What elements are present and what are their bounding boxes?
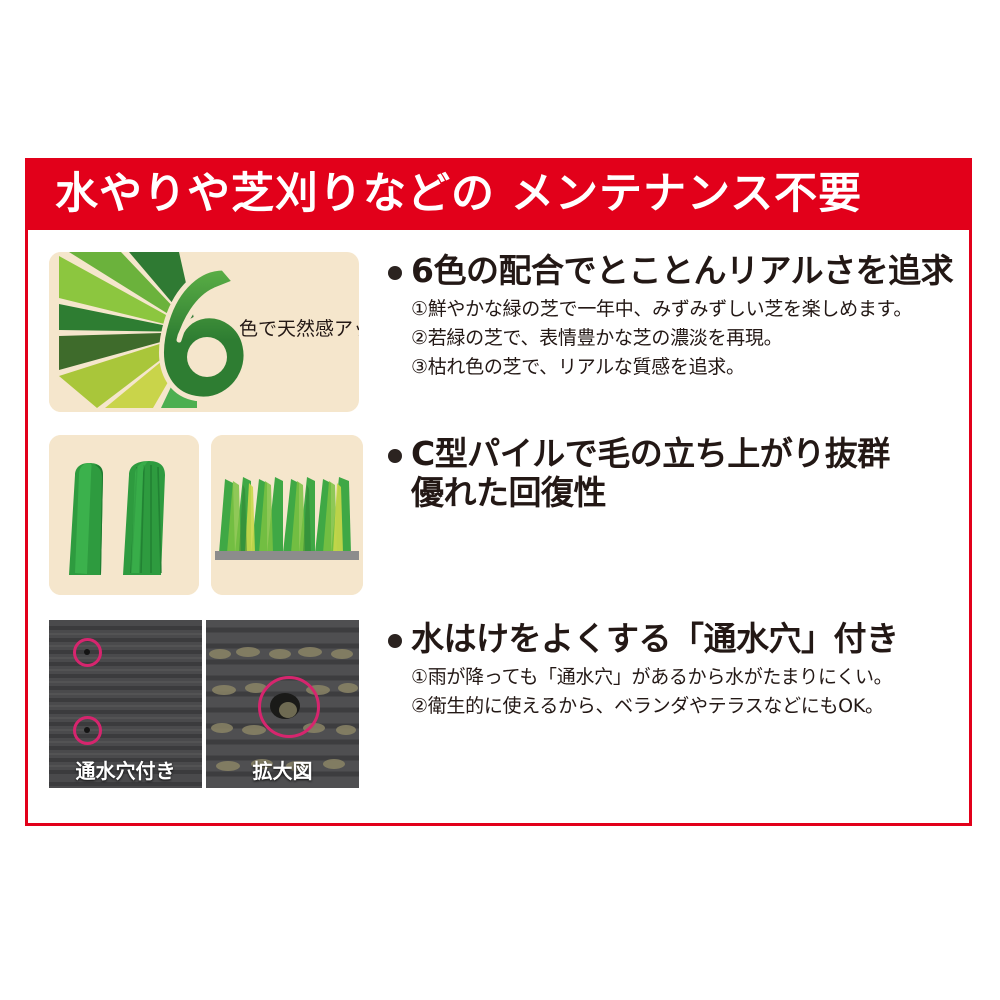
six-color-badge: 色で天然感アップ [49,252,359,412]
content-frame: 色で天然感アップ 6色の配合でとことんリアルさを追求 ①鮮やかな緑の芝で一年中、… [25,230,972,826]
feature-heading-line-2: 優れた回復性 [411,474,890,513]
hole-highlight-ring [258,676,320,738]
list-item: ②若緑の芝で、表情豊かな芝の濃淡を再現。 [411,324,969,353]
c-pile-closeup-image [49,435,199,595]
c-pile-media [28,435,366,595]
six-colors-media: 色で天然感アップ [28,252,366,412]
c-pile-side-view-svg [211,435,363,595]
hole-highlight-ring [73,716,102,745]
bullet-point-icon [388,634,402,648]
photo-caption: 拡大図 [206,755,359,784]
bullet-point-icon [388,266,402,280]
drain-hole-photo: 通水穴付き [49,620,202,788]
photo-caption: 通水穴付き [49,755,202,784]
c-pile-side-view-image [211,435,363,595]
headline-banner: 水やりや芝刈りなどの メンテナンス不要 [25,158,972,230]
product-feature-poster: 水やりや芝刈りなどの メンテナンス不要 [0,0,1000,1000]
list-item: ②衛生的に使えるから、ベランダやテラスなどにもOK。 [411,692,969,721]
bullet-point-icon [388,449,402,463]
hole-highlight-ring [73,638,102,667]
drain-holes-media: 通水穴付き [28,620,366,788]
feature-six-colors: 色で天然感アップ 6色の配合でとことんリアルさを追求 ①鮮やかな緑の芝で一年中、… [28,252,969,412]
six-colors-text: 6色の配合でとことんリアルさを追求 ①鮮やかな緑の芝で一年中、みずみずしい芝を楽… [366,252,969,412]
feature-heading: 6色の配合でとことんリアルさを追求 [411,252,953,291]
drain-photo-pair: 通水穴付き [49,620,359,788]
drain-hole-zoom-photo: 拡大図 [206,620,359,788]
feature-heading-line-1: C型パイルで毛の立ち上がり抜群 [411,435,890,474]
feature-heading-row: 水はけをよくする「通水穴」付き [388,620,969,659]
feature-heading-row: C型パイルで毛の立ち上がり抜群 優れた回復性 [388,435,969,513]
feature-c-pile: C型パイルで毛の立ち上がり抜群 優れた回復性 [28,435,969,595]
feature-bullet-list: ①雨が降っても「通水穴」があるから水がたまりにくい。 ②衛生的に使えるから、ベラ… [411,663,969,721]
banner-title: 水やりや芝刈りなどの メンテナンス不要 [55,173,862,216]
list-item: ③枯れ色の芝で、リアルな質感を追求。 [411,353,969,382]
feature-bullet-list: ①鮮やかな緑の芝で一年中、みずみずしい芝を楽しめます。 ②若緑の芝で、表情豊かな… [411,295,969,382]
drain-holes-text: 水はけをよくする「通水穴」付き ①雨が降っても「通水穴」があるから水がたまりにく… [366,620,969,788]
c-pile-closeup-svg [49,435,199,595]
feature-heading-row: 6色の配合でとことんリアルさを追求 [388,252,969,291]
badge-caption: 色で天然感アップ [239,314,359,341]
feature-drain-holes: 通水穴付き [28,620,969,788]
c-pile-text: C型パイルで毛の立ち上がり抜群 優れた回復性 [366,435,969,595]
list-item: ①鮮やかな緑の芝で一年中、みずみずしい芝を楽しめます。 [411,295,969,324]
feature-heading: 水はけをよくする「通水穴」付き [411,620,899,659]
list-item: ①雨が降っても「通水穴」があるから水がたまりにくい。 [411,663,969,692]
